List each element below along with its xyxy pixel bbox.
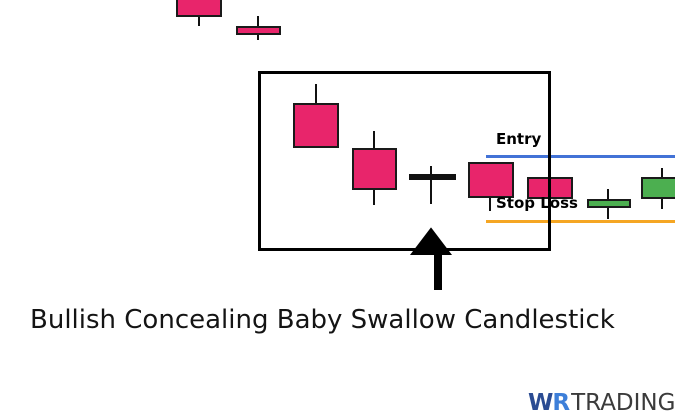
candle-body xyxy=(176,0,222,17)
wrtrading-logo: WRTRADING xyxy=(528,390,675,414)
chart-figure: Entry Stop Loss Bullish Concealing Baby … xyxy=(0,0,675,419)
stop-loss-label: Stop Loss xyxy=(496,195,578,212)
candle-body xyxy=(236,26,281,35)
logo-wordmark: TRADING xyxy=(571,390,675,416)
buy-signal-arrow-icon xyxy=(405,224,461,294)
candle-body xyxy=(587,199,631,208)
figure-caption: Bullish Concealing Baby Swallow Candlest… xyxy=(30,303,670,337)
candle-body xyxy=(641,177,675,199)
logo-letter-r: R xyxy=(552,390,570,416)
entry-label: Entry xyxy=(496,131,541,148)
logo-letter-w: W xyxy=(528,390,552,416)
